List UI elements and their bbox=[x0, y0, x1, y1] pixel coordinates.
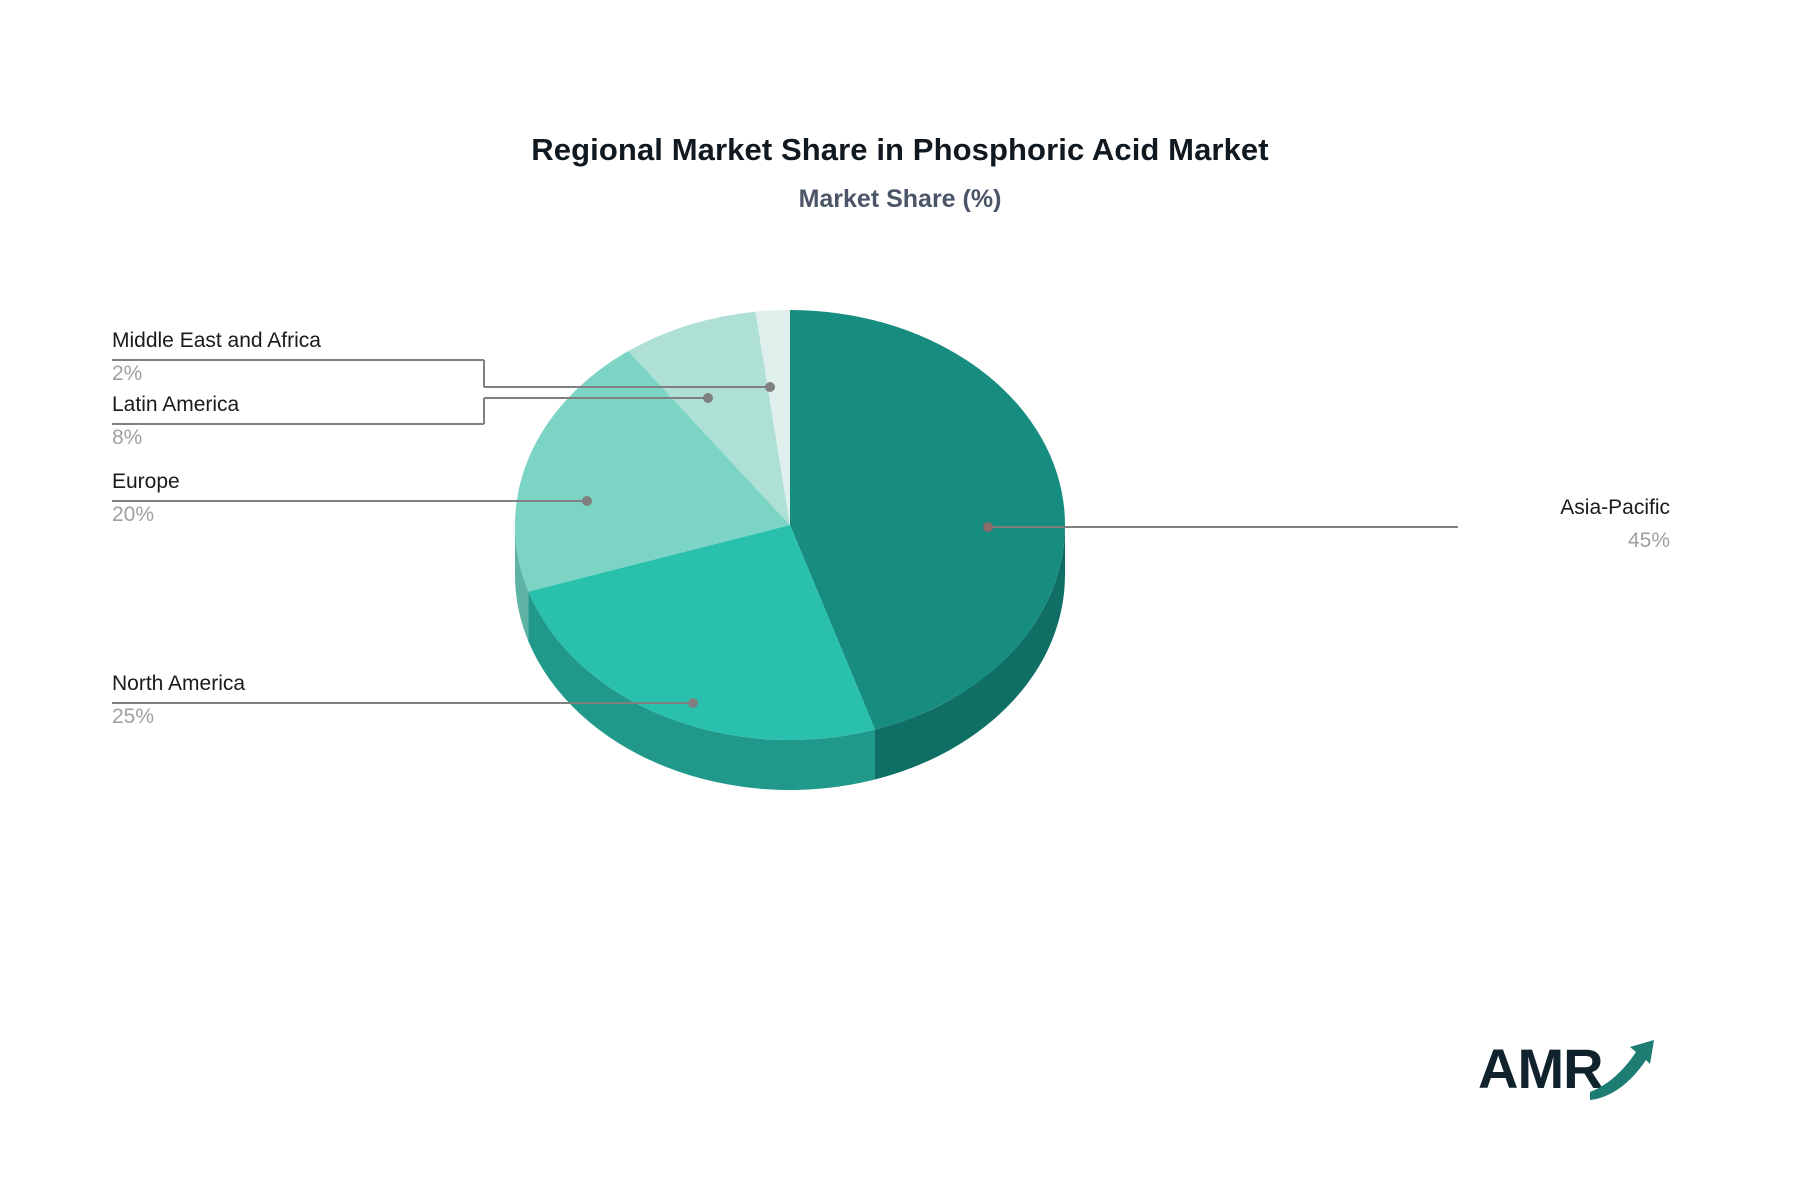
label-name-middle-east-and-africa: Middle East and Africa bbox=[112, 328, 321, 357]
label-north-america: North America 25% bbox=[112, 671, 245, 731]
label-europe: Europe 20% bbox=[112, 469, 180, 529]
label-value-latin-america: 8% bbox=[112, 421, 239, 452]
pie-slices bbox=[515, 310, 1065, 740]
chart-title: Regional Market Share in Phosphoric Acid… bbox=[0, 132, 1800, 168]
growth-arrow-icon bbox=[1588, 1038, 1668, 1108]
chart-canvas: Regional Market Share in Phosphoric Acid… bbox=[0, 0, 1800, 1196]
pie-chart bbox=[490, 300, 1090, 860]
amr-logo: AMR bbox=[1478, 1030, 1668, 1110]
label-value-europe: 20% bbox=[112, 498, 180, 529]
chart-subtitle: Market Share (%) bbox=[0, 185, 1800, 214]
amr-logo-text: AMR bbox=[1478, 1036, 1603, 1101]
label-latin-america: Latin America 8% bbox=[112, 392, 239, 452]
label-name-north-america: North America bbox=[112, 671, 245, 700]
label-name-asia-pacific: Asia-Pacific bbox=[1560, 495, 1670, 524]
pie-svg bbox=[490, 300, 1090, 860]
label-name-europe: Europe bbox=[112, 469, 180, 498]
label-value-north-america: 25% bbox=[112, 700, 245, 731]
label-asia-pacific: Asia-Pacific 45% bbox=[1560, 495, 1670, 555]
label-name-latin-america: Latin America bbox=[112, 392, 239, 421]
label-value-asia-pacific: 45% bbox=[1560, 524, 1670, 555]
label-middle-east-and-africa: Middle East and Africa 2% bbox=[112, 328, 321, 388]
label-value-middle-east-and-africa: 2% bbox=[112, 357, 321, 388]
